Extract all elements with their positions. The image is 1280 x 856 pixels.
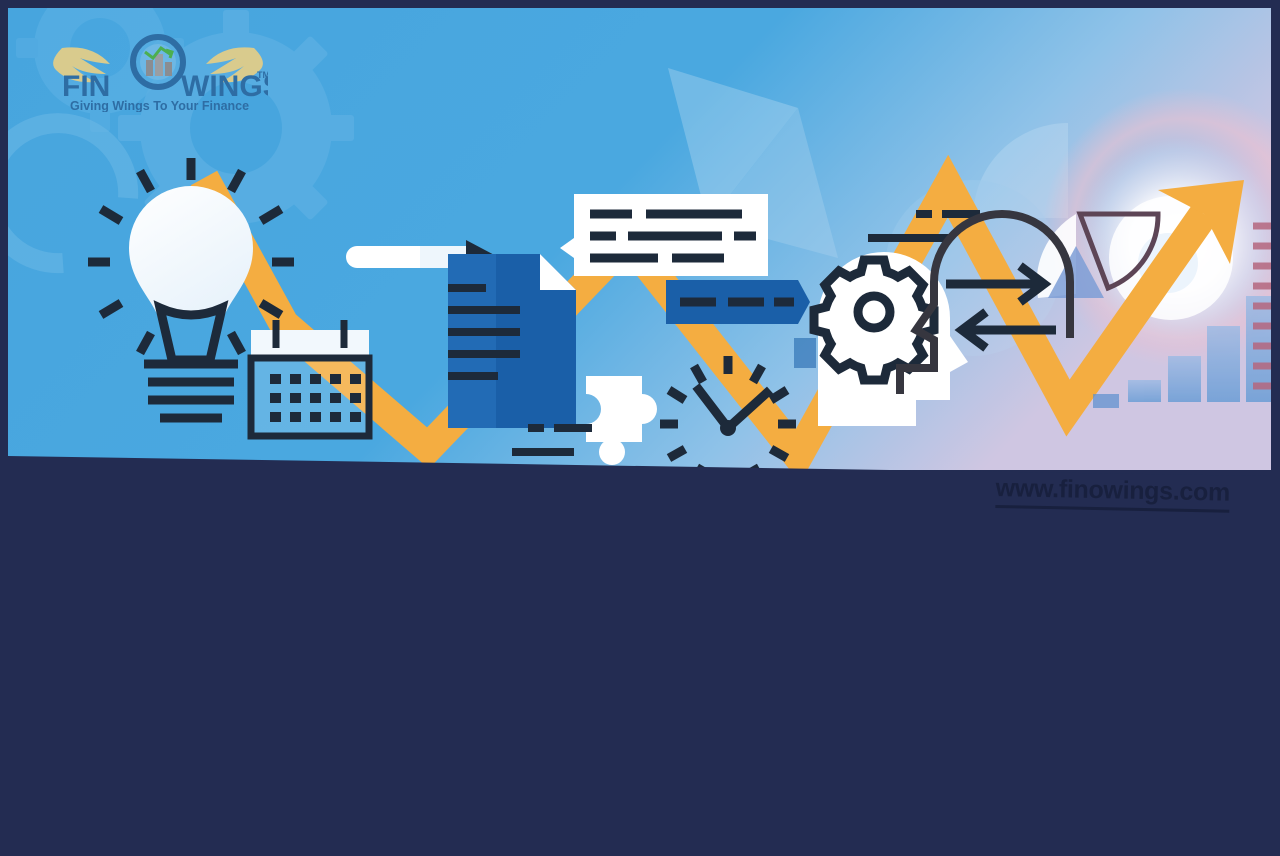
accent-square-right: [1093, 394, 1119, 408]
document-icon: [448, 254, 576, 428]
calendar-icon: [251, 320, 369, 436]
speech-bubble-icon: [560, 194, 768, 276]
hero-illustration: FIN WINGS TM Giving Wings To Your Financ…: [8, 8, 1271, 470]
logo-emblem: [133, 37, 183, 87]
progress-bar-shape: [666, 280, 810, 324]
logo-trademark: TM: [257, 70, 268, 80]
accent-square-mid: [794, 338, 816, 368]
finowings-logo[interactable]: FIN WINGS TM Giving Wings To Your Financ…: [48, 32, 268, 112]
logo-tagline: Giving Wings To Your Finance: [70, 99, 249, 112]
poster: FIN WINGS TM Giving Wings To Your Financ…: [0, 0, 1280, 856]
headline-block: What Is The Difference Between Risk Anal…: [8, 448, 1271, 847]
poster-frame: FIN WINGS TM Giving Wings To Your Financ…: [8, 8, 1271, 847]
logo-svg: FIN WINGS TM Giving Wings To Your Financ…: [48, 32, 268, 112]
